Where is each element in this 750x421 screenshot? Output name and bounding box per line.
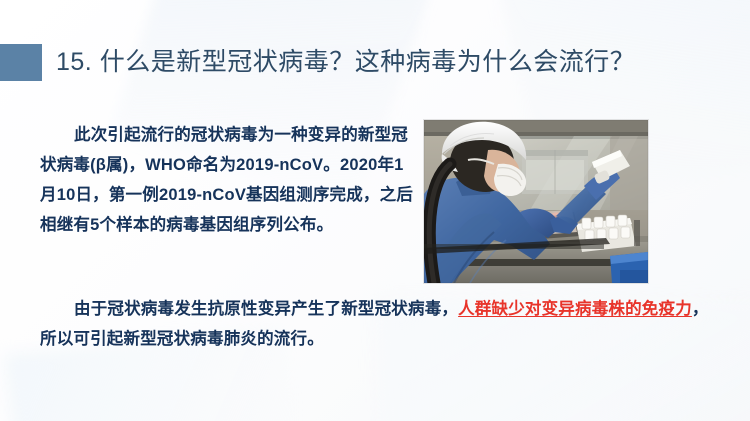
paragraph-two-part-one: 由于冠状病毒发生抗原性变异产生了新型冠状病毒， — [74, 300, 458, 318]
slide-title-row: 15. 什么是新型冠状病毒？这种病毒为什么会流行？ — [0, 44, 750, 82]
highlighted-phrase: 人群缺少对变异病毒株的免疫力 — [458, 300, 692, 318]
title-accent-block — [0, 44, 42, 81]
paragraph-one: 此次引起流行的冠状病毒为一种变异的新型冠状病毒(β属)，WHO命名为2019-n… — [40, 120, 415, 240]
paragraph-one-text: 此次引起流行的冠状病毒为一种变异的新型冠状病毒(β属)，WHO命名为2019-n… — [40, 120, 415, 240]
slide: 15. 什么是新型冠状病毒？这种病毒为什么会流行？ — [0, 0, 750, 421]
paragraph-two-text: 由于冠状病毒发生抗原性变异产生了新型冠状病毒，人群缺少对变异病毒株的免疫力，所以… — [40, 294, 712, 354]
paragraph-two: 由于冠状病毒发生抗原性变异产生了新型冠状病毒，人群缺少对变异病毒株的免疫力，所以… — [40, 294, 712, 354]
lab-photo-illustration — [424, 120, 648, 283]
lab-technician-photo — [424, 120, 648, 283]
paragraph-one-body: 此次引起流行的冠状病毒为一种变异的新型冠状病毒(β属)，WHO命名为2019-n… — [40, 126, 413, 234]
blue-bin — [610, 252, 648, 283]
page-title: 15. 什么是新型冠状病毒？这种病毒为什么会流行？ — [56, 42, 635, 82]
